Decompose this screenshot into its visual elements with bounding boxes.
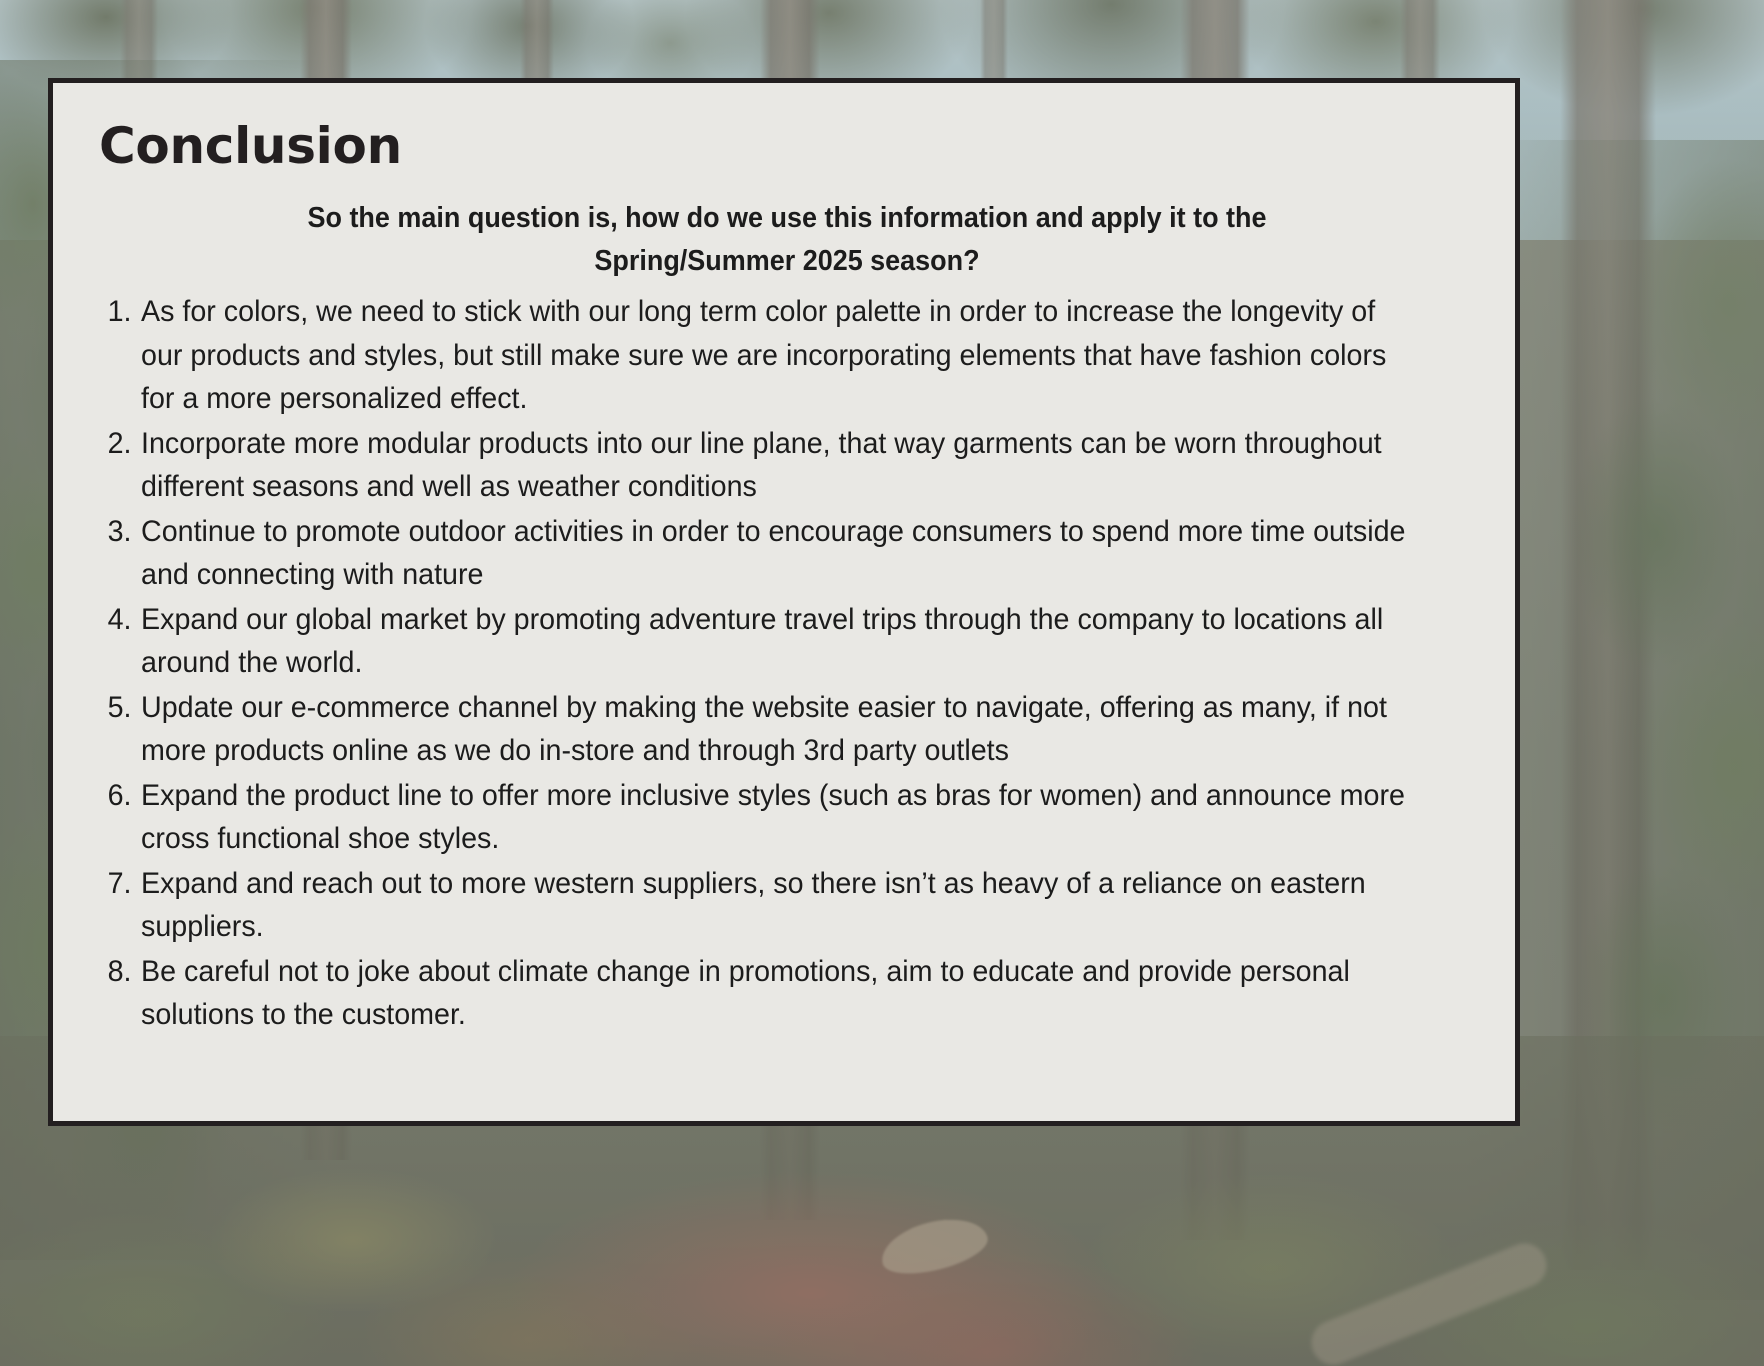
list-item: Continue to promote outdoor activities i… [99, 510, 1413, 597]
list-item: Expand and reach out to more western sup… [99, 862, 1413, 949]
list-item: Incorporate more modular products into o… [99, 422, 1413, 509]
list-item: Expand our global market by promoting ad… [99, 598, 1413, 685]
list-item: As for colors, we need to stick with our… [99, 290, 1413, 421]
list-item: Expand the product line to offer more in… [99, 774, 1413, 861]
page-title: Conclusion [99, 119, 1475, 173]
list-item: Be careful not to joke about climate cha… [99, 950, 1413, 1037]
subtitle-line-1: So the main question is, how do we use t… [158, 199, 1415, 238]
subtitle-line-2: Spring/Summer 2025 season? [158, 242, 1415, 281]
list-item: Update our e-commerce channel by making … [99, 686, 1413, 773]
content-card: Conclusion So the main question is, how … [48, 78, 1520, 1126]
recommendations-list: As for colors, we need to stick with our… [99, 290, 1475, 1037]
slide-root: Conclusion So the main question is, how … [0, 0, 1764, 1366]
